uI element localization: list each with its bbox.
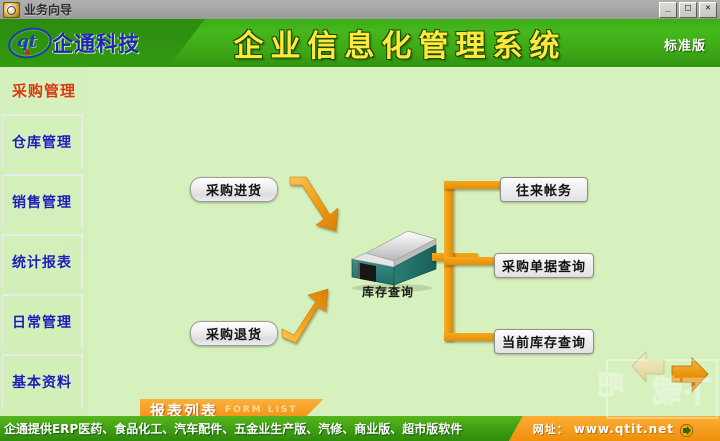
flow-button-purchase-in[interactable]: 采购进货 — [190, 177, 278, 202]
main-content-area: 采购管理 仓库管理 销售管理 统计报表 日常管理 基本资料 采购进货 采购退货 — [0, 67, 720, 416]
qt-logo-icon: qt — [8, 26, 48, 59]
application-window: 业务向导 _ □ ✕ 企业信息化管理系统 qt 企通科技 标准版 采购管理 仓库… — [0, 0, 720, 441]
window-title: 业务向导 — [24, 1, 72, 18]
arrow-diagonal-up-right-icon — [280, 285, 342, 347]
sidebar-item-purchasing[interactable]: 采购管理 — [4, 79, 84, 101]
website-url: www.qtit.net — [574, 422, 674, 436]
company-name: 企通科技 — [52, 28, 140, 58]
edition-badge: 标准版 — [664, 35, 706, 54]
flow-button-accounts[interactable]: 往来帐务 — [500, 177, 588, 202]
wizard-navigation — [630, 350, 712, 398]
status-bar-website[interactable]: 网址： www.qtit.net — [509, 416, 720, 441]
sidebar-navigation: 采购管理 仓库管理 销售管理 统计报表 日常管理 基本资料 — [0, 67, 88, 416]
header-banner: 企业信息化管理系统 qt 企通科技 标准版 — [0, 19, 720, 67]
arrow-right-icon — [679, 422, 694, 435]
sidebar-item-reports[interactable]: 统计报表 — [2, 234, 83, 288]
arrow-left-icon — [632, 352, 664, 382]
close-icon: ✕ — [705, 3, 710, 13]
sidebar-item-daily[interactable]: 日常管理 — [2, 294, 83, 348]
report-list-tab: 报表列表 FORM LIST — [140, 399, 324, 416]
maximize-icon: □ — [685, 3, 690, 13]
sidebar-item-sales[interactable]: 销售管理 — [2, 174, 83, 228]
company-logo: qt 企通科技 — [8, 26, 140, 59]
app-logo-icon — [3, 2, 20, 18]
report-list-panel: 购销存日报表 购销存月报表 报表列表 FORM LIST — [140, 399, 630, 416]
window-title-bar: 业务向导 _ □ ✕ — [0, 0, 720, 20]
status-bar: 企通提供ERP医药、食品化工、汽车配件、五金业生产版、汽修、商业版、超市版软件 … — [0, 416, 720, 441]
status-bar-message: 企通提供ERP医药、食品化工、汽车配件、五金业生产版、汽修、商业版、超市版软件 — [4, 420, 462, 437]
sidebar-item-warehouse[interactable]: 仓库管理 — [2, 114, 83, 168]
maximize-button[interactable]: □ — [679, 2, 697, 18]
warehouse-label: 库存查询 — [336, 283, 440, 300]
flow-button-purchase-docs-query[interactable]: 采购单据查询 — [494, 253, 594, 278]
logo-dot — [25, 50, 30, 55]
minimize-button[interactable]: _ — [659, 2, 677, 18]
arrow-right-icon — [672, 358, 708, 392]
connector-branch-top — [444, 181, 506, 189]
minimize-icon: _ — [665, 3, 670, 13]
flow-button-purchase-return[interactable]: 采购退货 — [190, 321, 278, 346]
window-controls: _ □ ✕ — [659, 2, 717, 18]
logo-letters: qt — [17, 32, 37, 52]
flow-button-current-stock-query[interactable]: 当前库存查询 — [494, 329, 594, 354]
report-list-subtitle: FORM LIST — [225, 405, 298, 415]
report-list-title: 报表列表 — [150, 400, 218, 417]
sidebar-item-basic-data[interactable]: 基本资料 — [2, 354, 83, 408]
website-label: 网址： — [533, 421, 569, 437]
close-button[interactable]: ✕ — [699, 2, 717, 18]
